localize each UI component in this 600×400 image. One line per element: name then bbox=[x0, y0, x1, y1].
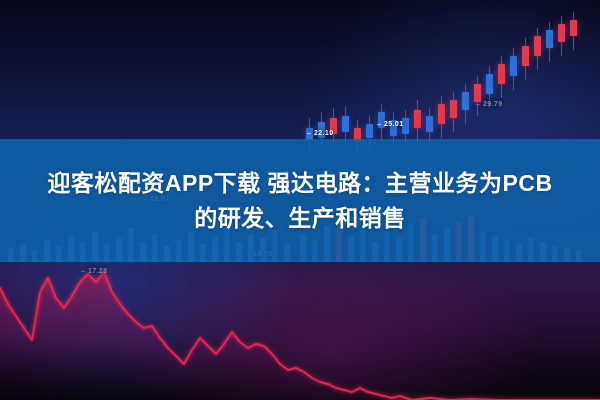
headline-band: 迎客松配资APP下载 强达电路：主营业务为PCB 的研发、生产和销售 bbox=[0, 139, 600, 262]
headline-line-2: 的研发、生产和销售 bbox=[194, 203, 406, 233]
price-label: 25.01 bbox=[384, 121, 404, 128]
price-label: 29.79 bbox=[483, 101, 503, 108]
price-label: 17.28 bbox=[88, 268, 108, 275]
headline-line-1: 迎客松配资APP下载 强达电路：主营业务为PCB bbox=[47, 168, 552, 198]
price-label: 22.10 bbox=[314, 130, 334, 137]
stock-news-banner: 18.0722.1025.0129.7918.7517.28 迎客松配资APP下… bbox=[0, 0, 600, 400]
